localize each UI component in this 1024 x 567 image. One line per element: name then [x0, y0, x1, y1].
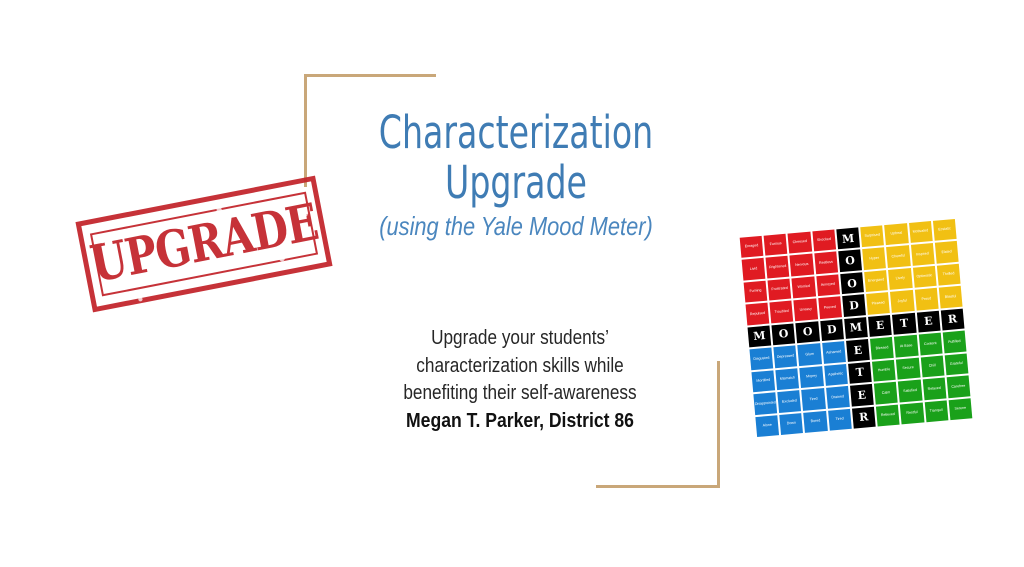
mood-meter-word-cell: Thrilled — [937, 264, 961, 286]
presenter-byline: Megan T. Parker, District 86 — [388, 408, 652, 436]
mood-meter-band-letter: T — [848, 362, 872, 384]
mood-meter-band-letter: E — [916, 311, 940, 333]
mood-meter-word-cell: Nervous — [790, 254, 814, 276]
mood-meter-band-letter: M — [844, 317, 868, 339]
mood-meter-word-cell: Lively — [888, 268, 912, 290]
body-line-3: benefiting their self-awareness — [391, 380, 649, 408]
corner-bracket-bottom-right-vertical — [717, 361, 720, 488]
slide-title: Characterization Upgrade — [363, 108, 668, 209]
mood-meter-word-cell: Repulsed — [746, 303, 770, 325]
mood-meter-band-letter: E — [850, 384, 874, 406]
mood-meter-word-cell: Ashamed — [822, 341, 846, 363]
mood-meter-band-letter: O — [840, 272, 864, 294]
mood-meter-word-cell: Restless — [814, 252, 838, 274]
mood-meter-word-cell: Pleased — [866, 292, 890, 314]
mood-meter-word-cell: Content — [918, 333, 942, 355]
presentation-slide: Characterization Upgrade (using the Yale… — [0, 0, 1024, 567]
mood-meter-word-cell: Disgusted — [749, 348, 773, 370]
mood-meter-word-cell: Energized — [864, 270, 888, 292]
mood-meter-word-cell: Fulfilled — [943, 331, 967, 353]
stamp-text: UPGRADE — [86, 193, 322, 295]
mood-meter-word-cell: Mortified — [751, 370, 775, 392]
mood-meter-word-cell: Calm — [874, 382, 898, 404]
mood-meter-word-cell: Apathetic — [824, 364, 848, 386]
mood-meter-word-cell: Frustrated — [768, 278, 792, 300]
mood-meter-word-cell: Ecstatic — [933, 219, 957, 241]
mood-meter-band-letter: D — [820, 319, 844, 341]
mood-meter-band-letter: O — [838, 250, 862, 272]
mood-meter-word-cell: Depressed — [774, 346, 798, 368]
mood-meter-word-cell: Proud — [914, 288, 938, 310]
mood-meter-band-letter: D — [842, 294, 866, 316]
mood-meter-word-cell: Glum — [798, 343, 822, 365]
mood-meter-word-cell: Disappointed — [753, 392, 777, 414]
mood-meter-word-cell: Tired — [802, 388, 826, 410]
mood-meter-word-cell: Tired — [828, 408, 852, 430]
mood-meter-word-cell: Enraged — [740, 236, 764, 258]
mood-meter-word-cell: Chill — [920, 355, 944, 377]
mood-meter-word-cell: Upbeat — [884, 223, 908, 245]
mood-meter-word-cell: Uneasy — [794, 299, 818, 321]
mood-meter-word-cell: Humble — [872, 359, 896, 381]
mood-meter-word-cell: Shocked — [812, 230, 836, 252]
mood-meter-word-cell: Bored — [804, 410, 828, 432]
upgrade-stamp-graphic: UPGRADE — [74, 182, 336, 312]
mood-meter-word-cell: Joyful — [890, 290, 914, 312]
mood-meter-word-cell: Motivated — [909, 221, 933, 243]
mood-meter-word-cell: Worried — [792, 276, 816, 298]
mood-meter-band-letter: M — [748, 325, 772, 347]
body-text-block: Upgrade your students’ characterization … — [370, 325, 670, 435]
mood-meter-word-cell: Grateful — [944, 353, 968, 375]
mood-meter-graphic: EnragedFuriousCheesedShockedMSurprisedUp… — [740, 219, 973, 437]
mood-meter-word-cell: At Ease — [894, 335, 918, 357]
mood-meter-word-cell: Annoyed — [816, 274, 840, 296]
corner-bracket-top-left-horizontal — [304, 74, 436, 77]
mood-meter-band-letter: E — [868, 315, 892, 337]
mood-meter-word-cell: Peeved — [818, 297, 842, 319]
mood-meter-band-letter: E — [846, 339, 870, 361]
mood-meter-word-cell: Furious — [764, 234, 788, 256]
mood-meter-word-cell: Inspired — [911, 243, 935, 265]
mood-meter-word-cell: Fuming — [744, 281, 768, 303]
mood-meter-word-cell: Elated — [935, 241, 959, 263]
mood-meter-word-cell: Frightened — [766, 256, 790, 278]
corner-bracket-bottom-right-horizontal — [596, 485, 720, 488]
title-block: Characterization Upgrade (using the Yale… — [330, 108, 702, 242]
stamp-border: UPGRADE — [75, 176, 332, 313]
mood-meter-word-cell: Down — [779, 413, 803, 435]
mood-meter-word-cell: Alone — [755, 415, 779, 437]
mood-meter-word-cell: Hyper — [862, 248, 886, 270]
mood-meter-word-cell: Blessed — [870, 337, 894, 359]
mood-meter-band-letter: O — [796, 321, 820, 343]
body-line-2: characterization skills while — [391, 353, 649, 381]
mood-meter-word-cell: Relieved — [876, 404, 900, 426]
mood-meter-band-letter: R — [941, 308, 965, 330]
slide-subtitle: (using the Yale Mood Meter) — [360, 211, 672, 242]
stamp-inner-border: UPGRADE — [90, 192, 318, 297]
mood-meter-word-cell: Cheerful — [886, 246, 910, 268]
mood-meter-word-cell: Livid — [742, 258, 766, 280]
mood-meter-word-cell: Tranquil — [924, 400, 948, 422]
body-line-1: Upgrade your students’ — [391, 325, 649, 353]
mood-meter-word-cell: Excluded — [778, 390, 802, 412]
mood-meter-band-letter: T — [892, 313, 916, 335]
corner-bracket-top-left-vertical — [304, 74, 307, 187]
mood-meter-grid: EnragedFuriousCheesedShockedMSurprisedUp… — [740, 219, 973, 437]
mood-meter-word-cell: Serene — [948, 398, 972, 420]
mood-meter-word-cell: Relaxed — [922, 378, 946, 400]
mood-meter-word-cell: Troubled — [770, 301, 794, 323]
mood-meter-word-cell: Blissful — [939, 286, 963, 308]
mood-meter-word-cell: Mismatch — [776, 368, 800, 390]
mood-meter-band-letter: R — [852, 406, 876, 428]
mood-meter-word-cell: Optimistic — [913, 266, 937, 288]
mood-meter-word-cell: Mopey — [800, 366, 824, 388]
mood-meter-word-cell: Carefree — [946, 375, 970, 397]
mood-meter-band-letter: M — [836, 227, 860, 249]
mood-meter-band-letter: O — [772, 323, 796, 345]
mood-meter-word-cell: Cheesed — [788, 232, 812, 254]
mood-meter-word-cell: Secure — [896, 357, 920, 379]
mood-meter-word-cell: Surprised — [860, 225, 884, 247]
mood-meter-word-cell: Restful — [900, 402, 924, 424]
mood-meter-word-cell: Satisfied — [898, 380, 922, 402]
mood-meter-word-cell: Drained — [826, 386, 850, 408]
